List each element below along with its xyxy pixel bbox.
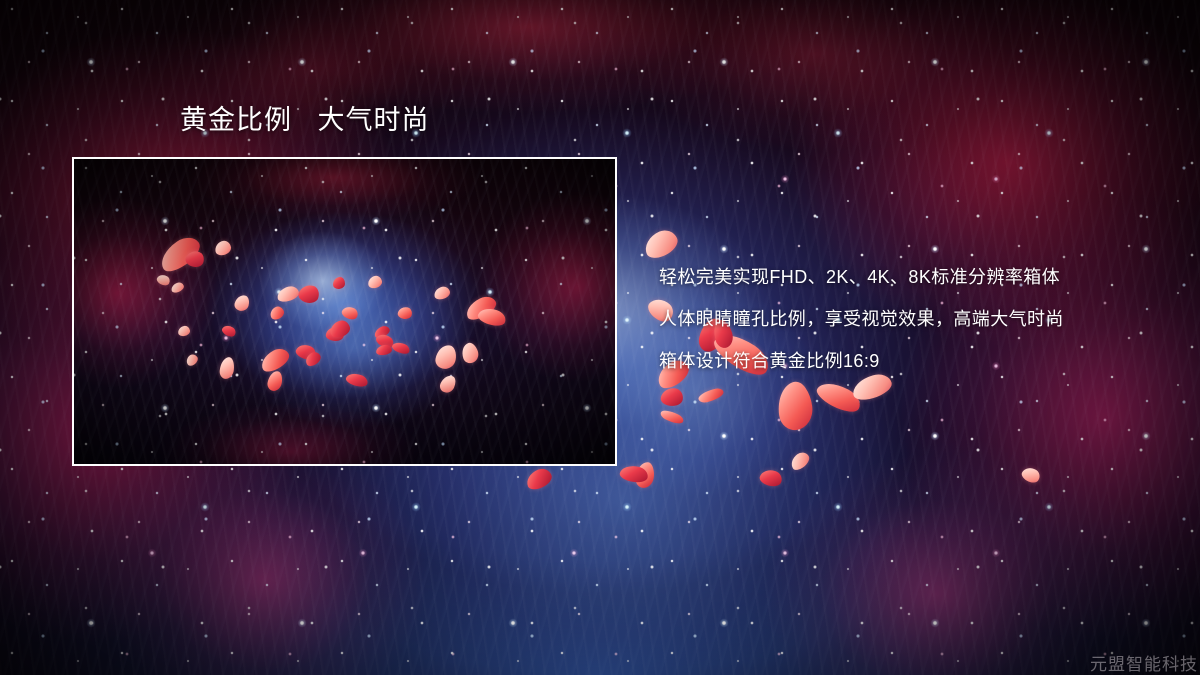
petal	[788, 449, 812, 472]
body-copy-line-3: 箱体设计符合黄金比例16:9	[659, 340, 1179, 382]
petal	[1020, 464, 1043, 485]
framed-image-panel[interactable]	[72, 157, 617, 466]
petal	[758, 467, 784, 489]
petal	[524, 466, 555, 492]
petal	[697, 387, 725, 404]
body-copy-line-1: 轻松完美实现FHD、2K、4K、8K标准分辨率箱体	[659, 256, 1179, 298]
framed-image-content	[74, 159, 615, 464]
body-copy-line-2: 人体眼睛瞳孔比例，享受视觉效果，高端大气时尚	[659, 298, 1179, 340]
slide-root: 黄金比例 大气时尚 轻松完美实现FHD、2K、4K、8K标准分辨率箱体 人体眼睛…	[0, 0, 1200, 675]
petal	[775, 380, 815, 432]
panel-vignette	[74, 159, 615, 464]
petal	[659, 407, 685, 427]
body-copy-block: 轻松完美实现FHD、2K、4K、8K标准分辨率箱体 人体眼睛瞳孔比例，享受视觉效…	[659, 256, 1179, 382]
petal	[660, 387, 684, 408]
page-title: 黄金比例 大气时尚	[180, 104, 430, 136]
watermark-brand: 元盟智能科技	[1090, 650, 1198, 675]
